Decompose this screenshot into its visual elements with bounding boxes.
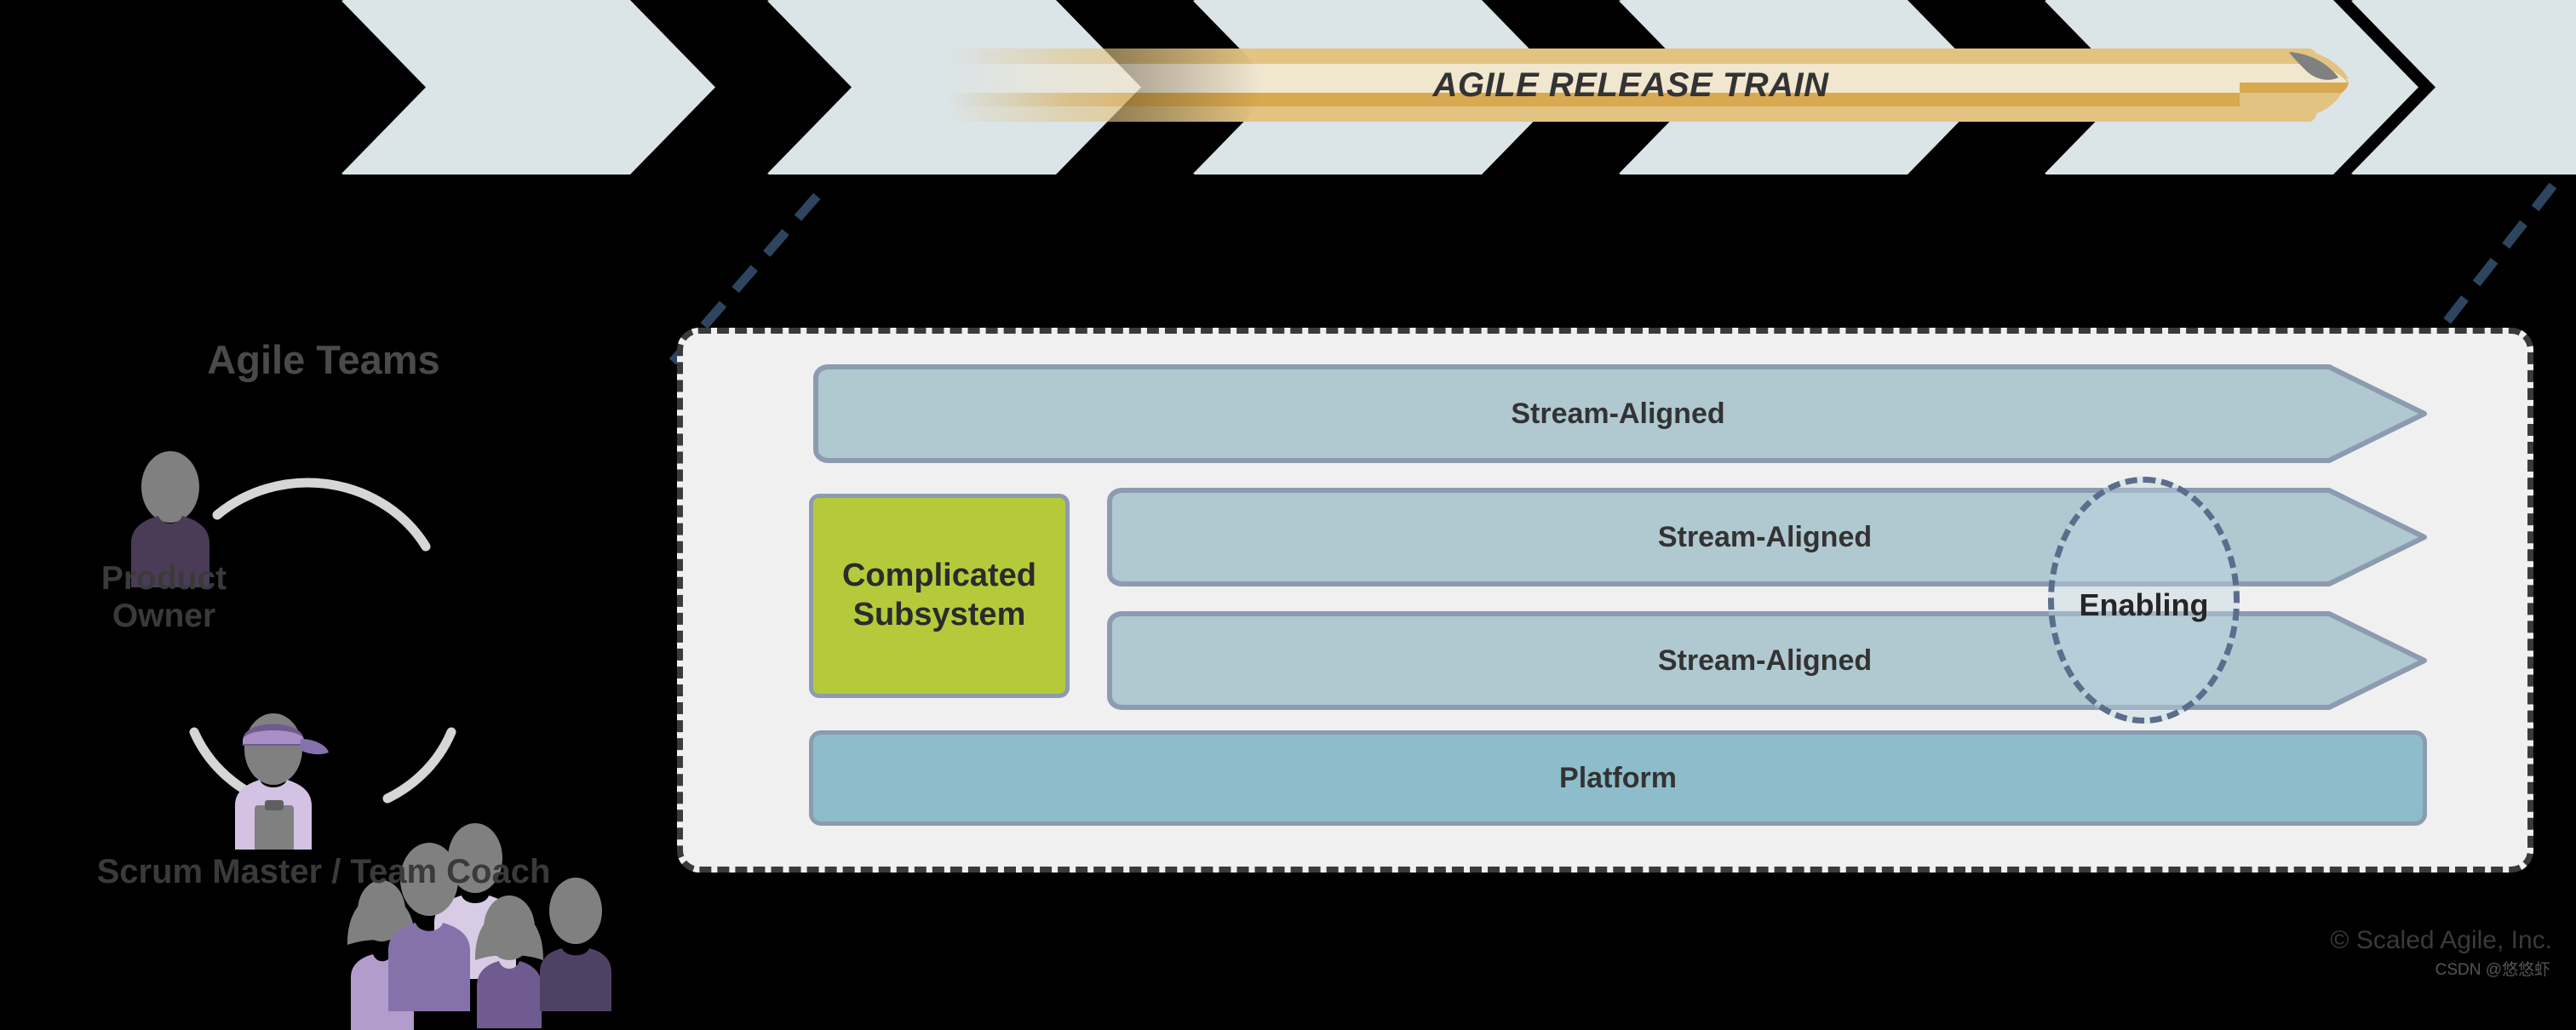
product-owner-label-line2: Owner (112, 598, 215, 634)
stream-aligned-label: Stream-Aligned (805, 364, 2431, 463)
enabling-team-label: Enabling (2035, 587, 2252, 623)
train-chevron (341, 0, 715, 175)
diagram-canvas: AGILE RELEASE TRAIN Agile Teams (0, 0, 2576, 979)
platform-bar: Platform (809, 730, 2427, 826)
copyright-text: © Scaled Agile, Inc. (2330, 926, 2552, 955)
agile-team-members-icon (332, 817, 613, 1030)
product-owner-label: Product Owner (0, 560, 328, 634)
platform-label: Platform (813, 735, 2423, 821)
watermark-text: CSDN @悠悠虾 (2435, 957, 2550, 980)
scrum-master-label: Scrum Master / Team Coach (0, 853, 647, 891)
complicated-subsystem-box: Complicated Subsystem (809, 494, 1070, 698)
complicated-subsystem-line1: Complicated (842, 558, 1036, 593)
scrum-master-icon (220, 696, 330, 850)
complicated-subsystem-line2: Subsystem (853, 597, 1026, 632)
agile-teams-group: Agile Teams (0, 332, 647, 928)
stream-aligned-bar-1-labelwrap: Stream-Aligned (805, 364, 2431, 463)
agile-release-train: AGILE RELEASE TRAIN (0, 0, 2576, 196)
product-owner-label-line1: Product (101, 560, 227, 597)
train-title: AGILE RELEASE TRAIN (945, 49, 2316, 122)
